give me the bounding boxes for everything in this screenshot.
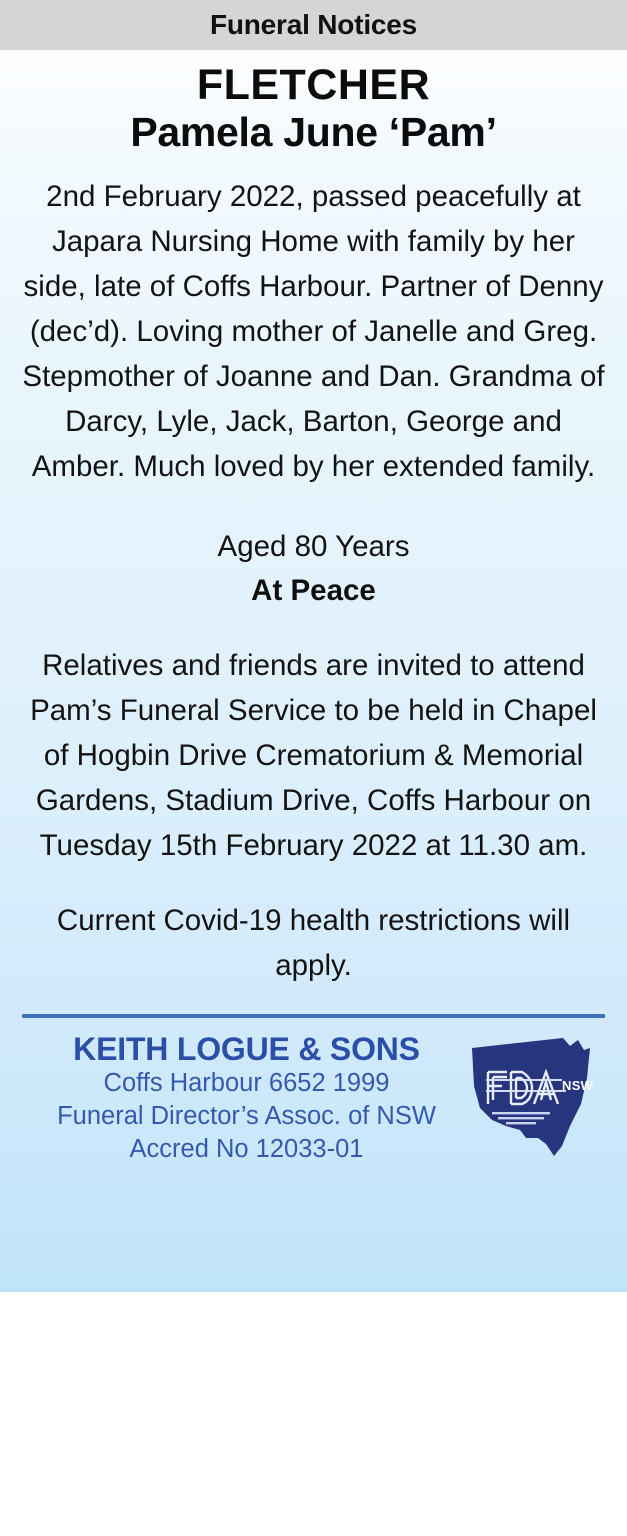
section-header-band: Funeral Notices xyxy=(0,0,627,50)
funeral-director-accreditation: Accred No 12033-01 xyxy=(32,1133,462,1166)
funeral-director-footer: KEITH LOGUE & SONS Coffs Harbour 6652 19… xyxy=(14,1032,613,1167)
funeral-director-details: KEITH LOGUE & SONS Coffs Harbour 6652 19… xyxy=(32,1032,462,1167)
footer-divider xyxy=(22,1014,605,1018)
funeral-notice-page: Funeral Notices FLETCHER Pamela June ‘Pa… xyxy=(0,0,627,1536)
notice-body-text: 2nd February 2022, passed peacefully at … xyxy=(14,174,613,489)
at-peace-line: At Peace xyxy=(14,569,613,613)
age-line: Aged 80 Years xyxy=(14,525,613,569)
funeral-director-name: KEITH LOGUE & SONS xyxy=(32,1032,462,1068)
covid-restrictions-text: Current Covid-19 health restrictions wil… xyxy=(14,898,613,988)
funeral-director-phone: Coffs Harbour 6652 1999 xyxy=(32,1067,462,1100)
funeral-director-association: Funeral Director’s Assoc. of NSW xyxy=(32,1100,462,1133)
service-details-text: Relatives and friends are invited to att… xyxy=(14,643,613,868)
deceased-surname: FLETCHER xyxy=(14,50,613,108)
svg-text:NSW: NSW xyxy=(562,1078,594,1093)
fda-nsw-logo: NSW xyxy=(466,1034,596,1160)
deceased-given-names: Pamela June ‘Pam’ xyxy=(14,110,613,156)
page-bottom-whitespace xyxy=(0,1292,627,1536)
page-title: Funeral Notices xyxy=(210,11,417,39)
age-block: Aged 80 Years At Peace xyxy=(14,525,613,613)
funeral-notice-card: FLETCHER Pamela June ‘Pam’ 2nd February … xyxy=(0,50,627,1292)
